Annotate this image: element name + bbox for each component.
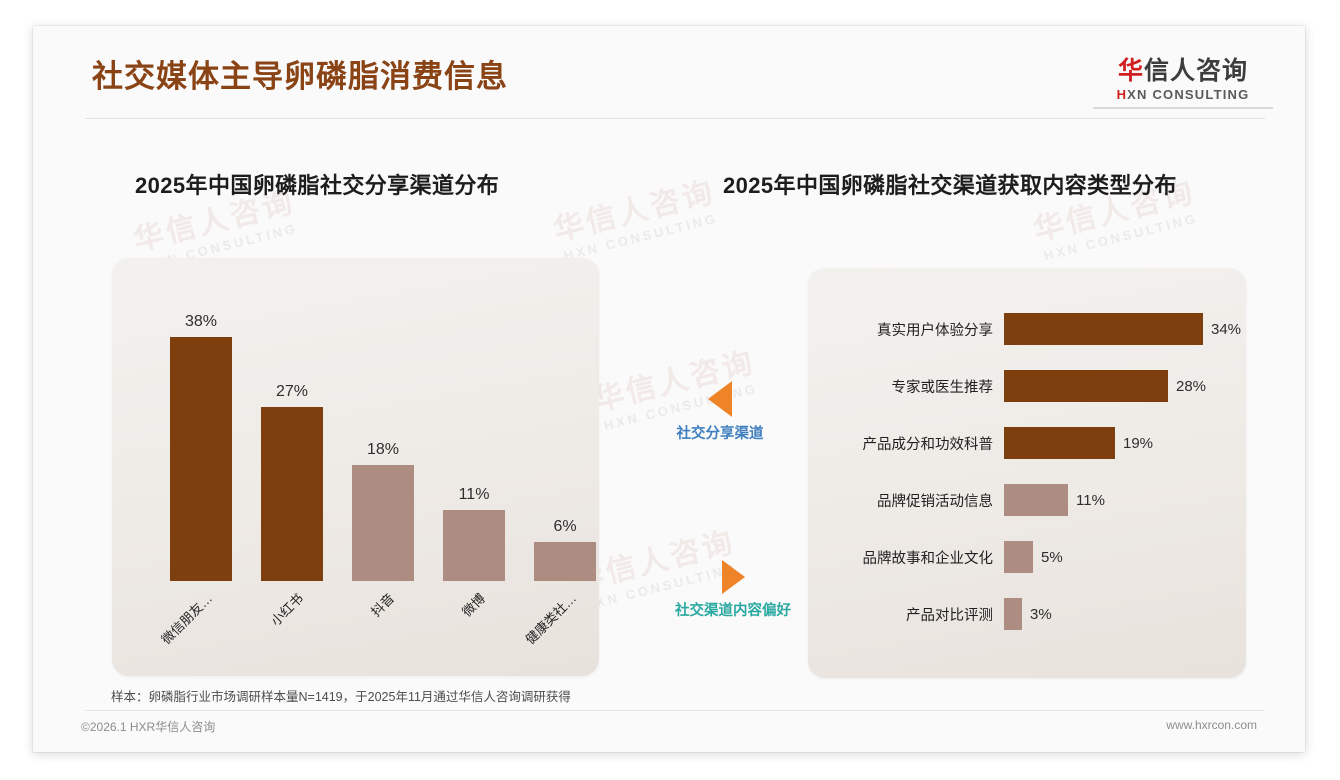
column-item: 11%微博 xyxy=(443,510,505,581)
right-chart-title: 2025年中国卵磷脂社交渠道获取内容类型分布 xyxy=(723,168,1177,200)
bar-fill xyxy=(1004,313,1203,345)
title-divider xyxy=(85,118,1265,119)
column-bar xyxy=(170,337,232,581)
bar-value-label: 3% xyxy=(1030,606,1052,623)
footer-copyright: ©2026.1 HXR华信人咨询 xyxy=(81,718,215,735)
column-value-label: 11% xyxy=(459,486,490,504)
column-value-label: 27% xyxy=(276,383,308,401)
annotation-content-preference-label: 社交渠道内容偏好 xyxy=(633,599,833,620)
left-chart-title: 2025年中国卵磷脂社交分享渠道分布 xyxy=(135,168,499,200)
column-item: 18%抖音 xyxy=(352,465,414,581)
column-category-label: 抖音 xyxy=(366,588,398,620)
watermark-en: HXN CONSULTING xyxy=(1039,210,1203,264)
column-value-label: 18% xyxy=(367,441,399,459)
column-bar xyxy=(352,465,414,581)
bar-fill xyxy=(1004,427,1115,459)
annotation-share-channel-label: 社交分享渠道 xyxy=(625,422,815,443)
column-item: 6%健康类社… xyxy=(534,542,596,581)
column-bar xyxy=(534,542,596,581)
bar-row: 品牌故事和企业文化5% xyxy=(808,540,1246,574)
bar-category-label: 专家或医生推荐 xyxy=(808,376,1004,397)
bar-value-label: 19% xyxy=(1123,435,1153,452)
bar-category-label: 品牌故事和企业文化 xyxy=(808,547,1004,568)
column-item: 27%小红书 xyxy=(261,407,323,581)
bar-fill xyxy=(1004,541,1033,573)
watermark: 华信人咨询 HXN CONSULTING xyxy=(548,167,722,264)
column-item: 38%微信朋友… xyxy=(170,337,232,581)
bar-fill xyxy=(1004,598,1022,630)
bar-row: 产品对比评测3% xyxy=(808,597,1246,631)
footer-divider xyxy=(85,710,1265,711)
footnote: 样本：卵磷脂行业市场调研样本量N=1419，于2025年11月通过华信人咨询调研… xyxy=(111,686,571,705)
bar-category-label: 产品对比评测 xyxy=(808,604,1004,625)
column-bar xyxy=(261,407,323,581)
logo-underline xyxy=(1093,107,1273,109)
horizontal-bar-chart: 真实用户体验分享34%专家或医生推荐28%产品成分和功效科普19%品牌促销活动信… xyxy=(808,268,1246,678)
company-logo: 华信人咨询 HXN CONSULTING xyxy=(1093,58,1273,109)
bar-row: 产品成分和功效科普19% xyxy=(808,426,1246,460)
annotation-share-channel: 社交分享渠道 xyxy=(625,381,815,443)
annotation-content-preference: 社交渠道内容偏好 xyxy=(633,560,833,620)
bar-value-label: 34% xyxy=(1211,321,1241,338)
watermark-en: HXN CONSULTING xyxy=(559,210,723,264)
slide-root: 华信人咨询 HXN CONSULTING 华信人咨询 HXN CONSULTIN… xyxy=(0,0,1340,780)
column-category-label: 健康类社… xyxy=(520,588,579,647)
slide-header: 社交媒体主导卵磷脂消费信息 华信人咨询 HXN CONSULTING xyxy=(33,26,1305,122)
bar-row: 真实用户体验分享34% xyxy=(808,312,1246,346)
page-title: 社交媒体主导卵磷脂消费信息 xyxy=(92,51,508,96)
right-chart-panel: 真实用户体验分享34%专家或医生推荐28%产品成分和功效科普19%品牌促销活动信… xyxy=(808,268,1246,678)
logo-cn-rest: 信人咨询 xyxy=(1144,57,1248,85)
bar-row: 专家或医生推荐28% xyxy=(808,369,1246,403)
bar-value-label: 11% xyxy=(1076,492,1105,509)
bar-category-label: 真实用户体验分享 xyxy=(808,319,1004,340)
triangle-left-icon xyxy=(708,381,732,417)
column-category-label: 小红书 xyxy=(266,588,307,629)
column-value-label: 6% xyxy=(553,518,576,536)
bar-fill xyxy=(1004,484,1068,516)
column-category-label: 微博 xyxy=(457,588,489,620)
logo-en-rest: XN CONSULTING xyxy=(1127,87,1249,102)
watermark-cn: 华信人咨询 xyxy=(548,167,719,250)
left-chart-panel: 38%微信朋友…27%小红书18%抖音11%微博6%健康类社… xyxy=(112,258,599,676)
column-category-label: 微信朋友… xyxy=(156,588,215,647)
logo-chinese-text: 华信人咨询 xyxy=(1093,58,1273,84)
logo-en-first: H xyxy=(1117,87,1128,102)
bar-row: 品牌促销活动信息11% xyxy=(808,483,1246,517)
bar-fill xyxy=(1004,370,1168,402)
column-chart: 38%微信朋友…27%小红书18%抖音11%微博6%健康类社… xyxy=(112,258,599,676)
logo-cn-first: 华 xyxy=(1118,57,1144,85)
triangle-right-icon xyxy=(722,560,745,594)
bar-category-label: 品牌促销活动信息 xyxy=(808,490,1004,511)
bar-value-label: 5% xyxy=(1041,549,1063,566)
column-value-label: 38% xyxy=(185,313,217,331)
bar-value-label: 28% xyxy=(1176,378,1206,395)
column-bar xyxy=(443,510,505,581)
slide-card: 华信人咨询 HXN CONSULTING 华信人咨询 HXN CONSULTIN… xyxy=(33,26,1305,752)
bar-category-label: 产品成分和功效科普 xyxy=(808,433,1004,454)
logo-english-text: HXN CONSULTING xyxy=(1093,87,1273,102)
footer-website: www.hxrcon.com xyxy=(1166,718,1257,732)
